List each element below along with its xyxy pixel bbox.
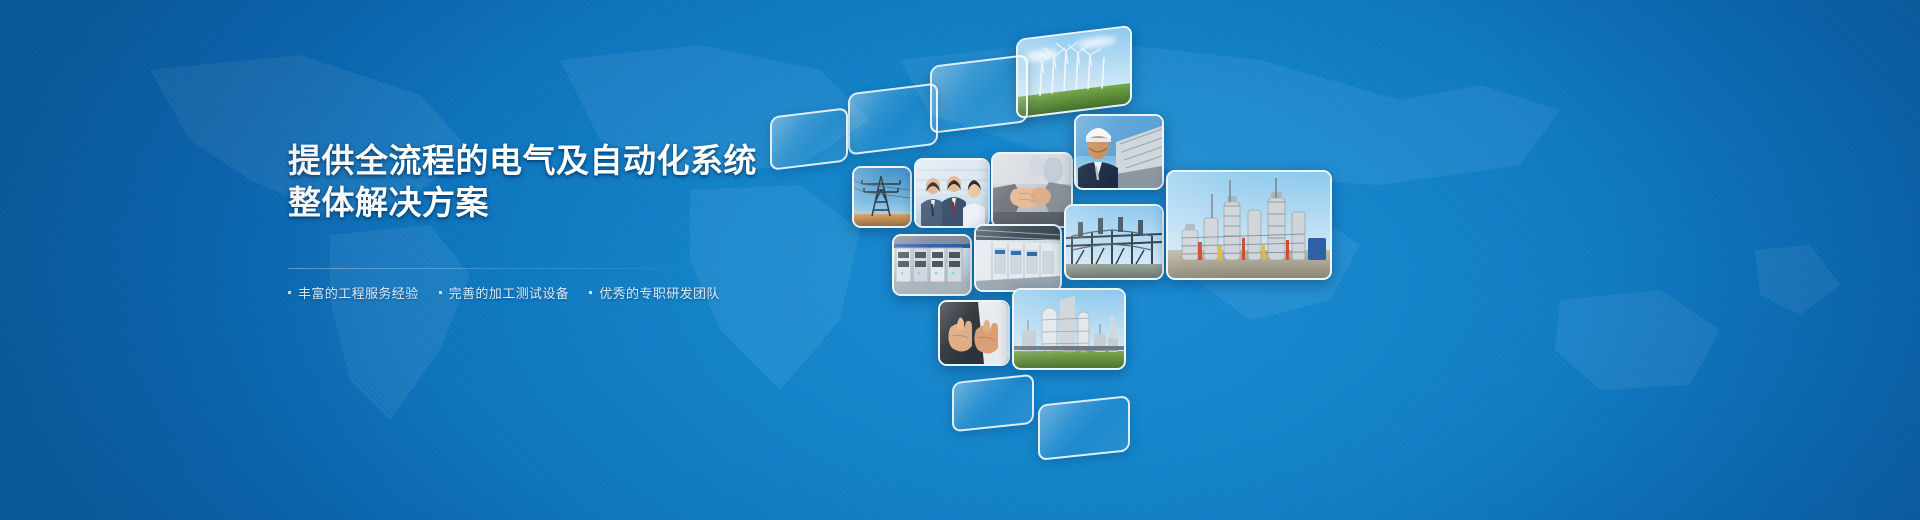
feature-bullet-2-label: 完善的加工测试设备 — [449, 283, 570, 302]
mosaic-tile-engineer-hardhat — [1074, 114, 1164, 190]
mosaic-tile-thumbs-up — [938, 300, 1010, 366]
hero-banner: 提供全流程的电气及自动化系统 整体解决方案 丰富的工程服务经验 完善的加工测试设… — [0, 0, 1920, 520]
business-team-photo — [916, 160, 988, 226]
divider-rule — [288, 268, 668, 269]
mosaic-tile-wind-farm — [1016, 25, 1132, 119]
mosaic-tile-gas-plant — [1012, 288, 1126, 370]
feature-bullet-3: 优秀的专职研发团队 — [589, 283, 720, 302]
engineer-hardhat-photo — [1076, 116, 1162, 188]
mosaic-tile-business-team — [914, 158, 990, 228]
mosaic-tile-control-cabinets — [892, 234, 972, 296]
feature-bullet-2: 完善的加工测试设备 — [439, 283, 570, 302]
mosaic-tile-industrial-pipe-rack — [1064, 204, 1164, 280]
mosaic-tile-empty-lower-left — [952, 374, 1034, 433]
wind-farm-photo — [1018, 27, 1130, 117]
mosaic-tile-switchgear-room — [974, 224, 1062, 292]
bullet-dot-icon — [288, 291, 291, 294]
transmission-tower-photo — [854, 168, 910, 226]
mosaic-tile-empty-upper-left — [770, 107, 848, 171]
bullet-dot-icon — [589, 291, 592, 294]
industrial-pipe-rack-photo — [1066, 206, 1162, 278]
switchgear-room-photo — [976, 226, 1060, 290]
gas-plant-photo — [1014, 290, 1124, 368]
feature-bullet-1: 丰富的工程服务经验 — [288, 283, 419, 302]
mosaic-tile-empty-upper-mid — [848, 82, 938, 155]
handshake-photo — [993, 154, 1071, 226]
feature-bullet-3-label: 优秀的专职研发团队 — [599, 283, 720, 302]
bullet-dot-icon — [439, 291, 442, 294]
mosaic-tile-handshake — [991, 152, 1073, 228]
mosaic-tile-empty-lower-right — [1038, 395, 1130, 461]
feature-bullet-1-label: 丰富的工程服务经验 — [298, 283, 419, 302]
refinery-plant-photo — [1168, 172, 1330, 278]
mosaic-tile-transmission-tower — [852, 166, 912, 228]
mosaic-tile-empty-upper-right — [930, 54, 1028, 134]
thumbs-up-photo — [940, 302, 1008, 364]
control-cabinets-photo — [894, 236, 970, 294]
mosaic-tile-refinery-plant — [1166, 170, 1332, 280]
photo-mosaic — [830, 0, 1450, 420]
